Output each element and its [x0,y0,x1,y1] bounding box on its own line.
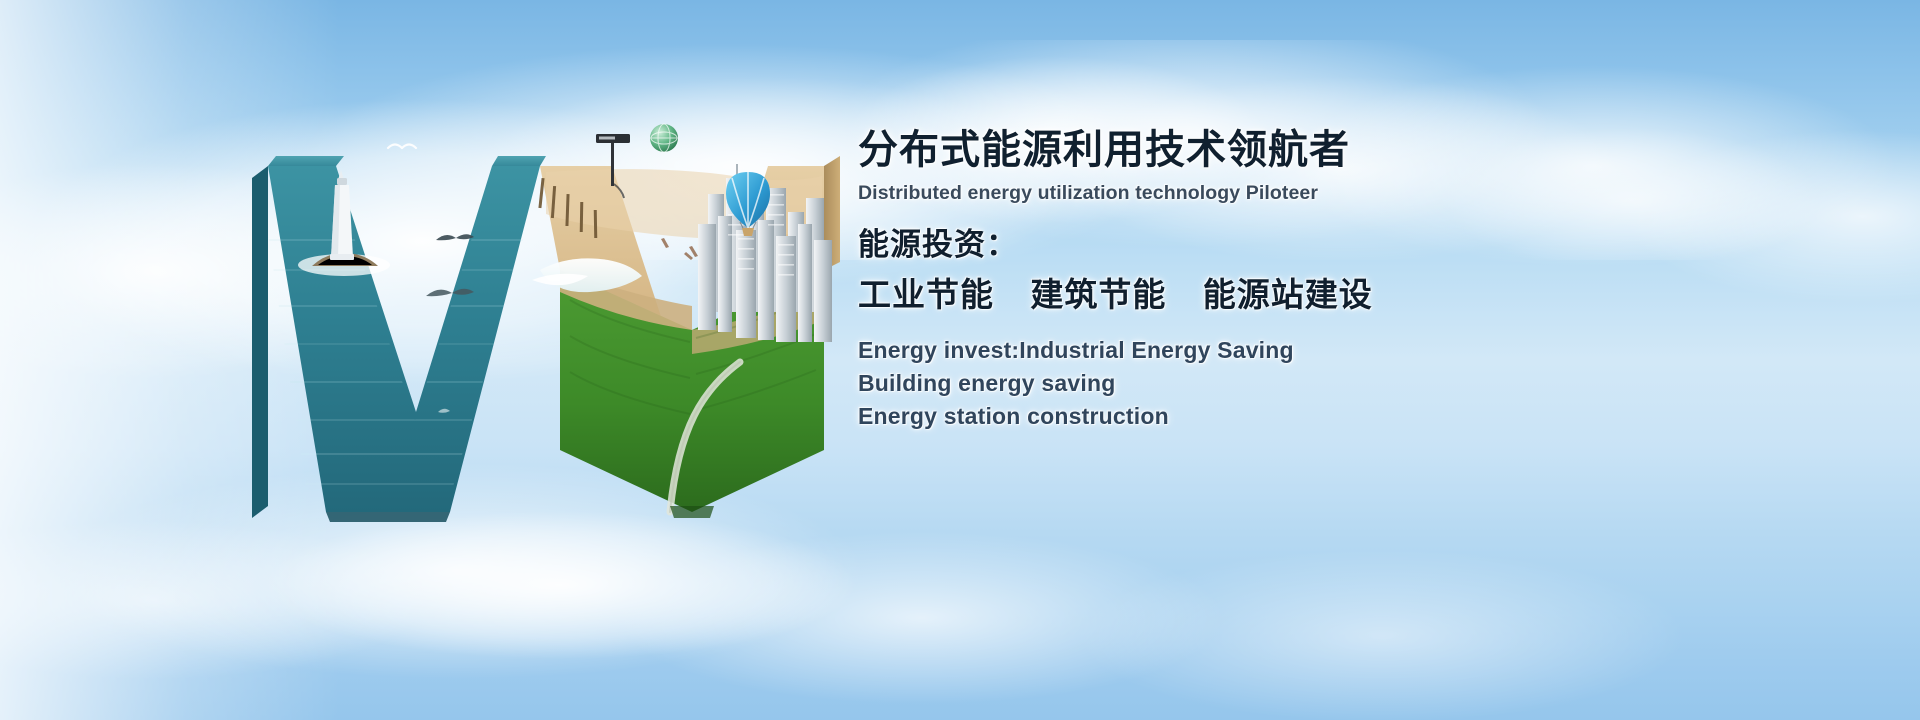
service-item-industrial-en: Energy invest:Industrial Energy Saving [858,334,1478,367]
page-title: 分布式能源利用技术领航者 [858,126,1478,174]
service-item-building-en: Building energy saving [858,367,1478,400]
subtitle-english: Distributed energy utilization technolog… [858,180,1478,206]
service-list-english: Energy invest:Industrial Energy Saving B… [858,334,1478,433]
service-item-station-cn: 能源站建设 [1203,276,1373,313]
letter-w-artwork [240,120,860,540]
service-item-industrial-cn: 工业节能 [858,276,994,313]
service-list-chinese: 工业节能 建筑节能 能源站建设 [858,272,1478,318]
lead-in-label: 能源投资： [858,224,1478,266]
service-item-building-cn: 建筑节能 [1030,276,1166,313]
banner-copy: 分布式能源利用技术领航者 Distributed energy utilizat… [858,126,1478,433]
service-item-station-en: Energy station construction [858,400,1478,433]
hero-banner: 分布式能源利用技术领航者 Distributed energy utilizat… [0,0,1920,720]
